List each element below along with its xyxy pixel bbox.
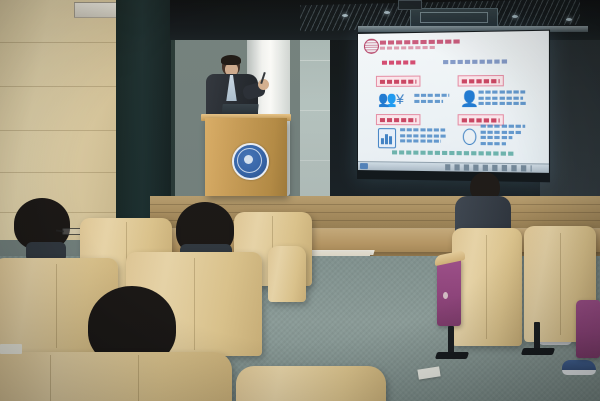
recessed-downlight-icon: [566, 18, 572, 21]
auditorium-seat[interactable]: [0, 352, 232, 401]
vent-louver: [420, 12, 488, 23]
wall-panel-seam: [0, 42, 128, 43]
start-button-icon[interactable]: [360, 163, 368, 169]
quadrant-body-bottom-left: [400, 128, 447, 145]
yen-icon: ¥: [396, 92, 404, 107]
lecture-hall-photo: 👥 ¥ 👤: [0, 0, 600, 401]
person-icon: 👤: [460, 92, 480, 107]
auditorium-seat[interactable]: [452, 228, 522, 346]
institution-logo-subtext: [380, 46, 437, 50]
presenter-hair: [221, 55, 241, 65]
screen-surface: 👥 ¥ 👤: [358, 31, 549, 173]
slide-title-left: [382, 60, 416, 64]
medal-icon: [463, 129, 477, 146]
quadrant-title-bottom-left: [376, 114, 421, 125]
ceiling-speaker-icon: [398, 0, 422, 10]
recessed-downlight-icon: [512, 15, 518, 18]
seal-core: [244, 155, 253, 164]
windows-taskbar[interactable]: [358, 161, 549, 173]
sneaker-sole: [562, 370, 596, 375]
presenter-hand: [258, 79, 269, 90]
seat-armrest[interactable]: [437, 258, 461, 326]
paper-on-seat: [0, 344, 22, 354]
taskbar-tray-icons[interactable]: [445, 164, 532, 171]
quadrant-body-bottom-right: [481, 125, 528, 148]
institution-logo-text: [380, 39, 460, 44]
institution-logo-icon: [364, 39, 379, 54]
quadrant-title-top-right: [458, 75, 504, 87]
quadrant-body-top-left: [414, 94, 449, 105]
slide-title-right: [443, 59, 508, 64]
recessed-downlight-icon: [384, 11, 390, 14]
recessed-downlight-icon: [342, 14, 348, 17]
tablet-chart-icon: [378, 128, 396, 148]
auditorium-seat[interactable]: [268, 246, 306, 302]
wall-panel-seam: [0, 130, 128, 131]
presentation-slide: 👥 ¥ 👤: [358, 31, 549, 173]
quadrant-title-top-left: [376, 76, 421, 87]
quadrant-body-top-right: [479, 90, 526, 107]
seat-armrest[interactable]: [576, 300, 600, 358]
people-and-yen-icon: 👥: [378, 92, 397, 107]
wall-panel-seam: [0, 86, 128, 87]
wood-wall-panel: [0, 0, 128, 240]
wall-panel-seam: [0, 172, 128, 173]
projection-screen: 👥 ¥ 👤: [357, 30, 550, 183]
slide-footer-note: [392, 150, 514, 155]
seat-foot: [435, 352, 469, 359]
auditorium-seat[interactable]: [236, 366, 386, 401]
seat-foot: [521, 348, 555, 355]
armrest-button-icon[interactable]: [443, 292, 448, 299]
